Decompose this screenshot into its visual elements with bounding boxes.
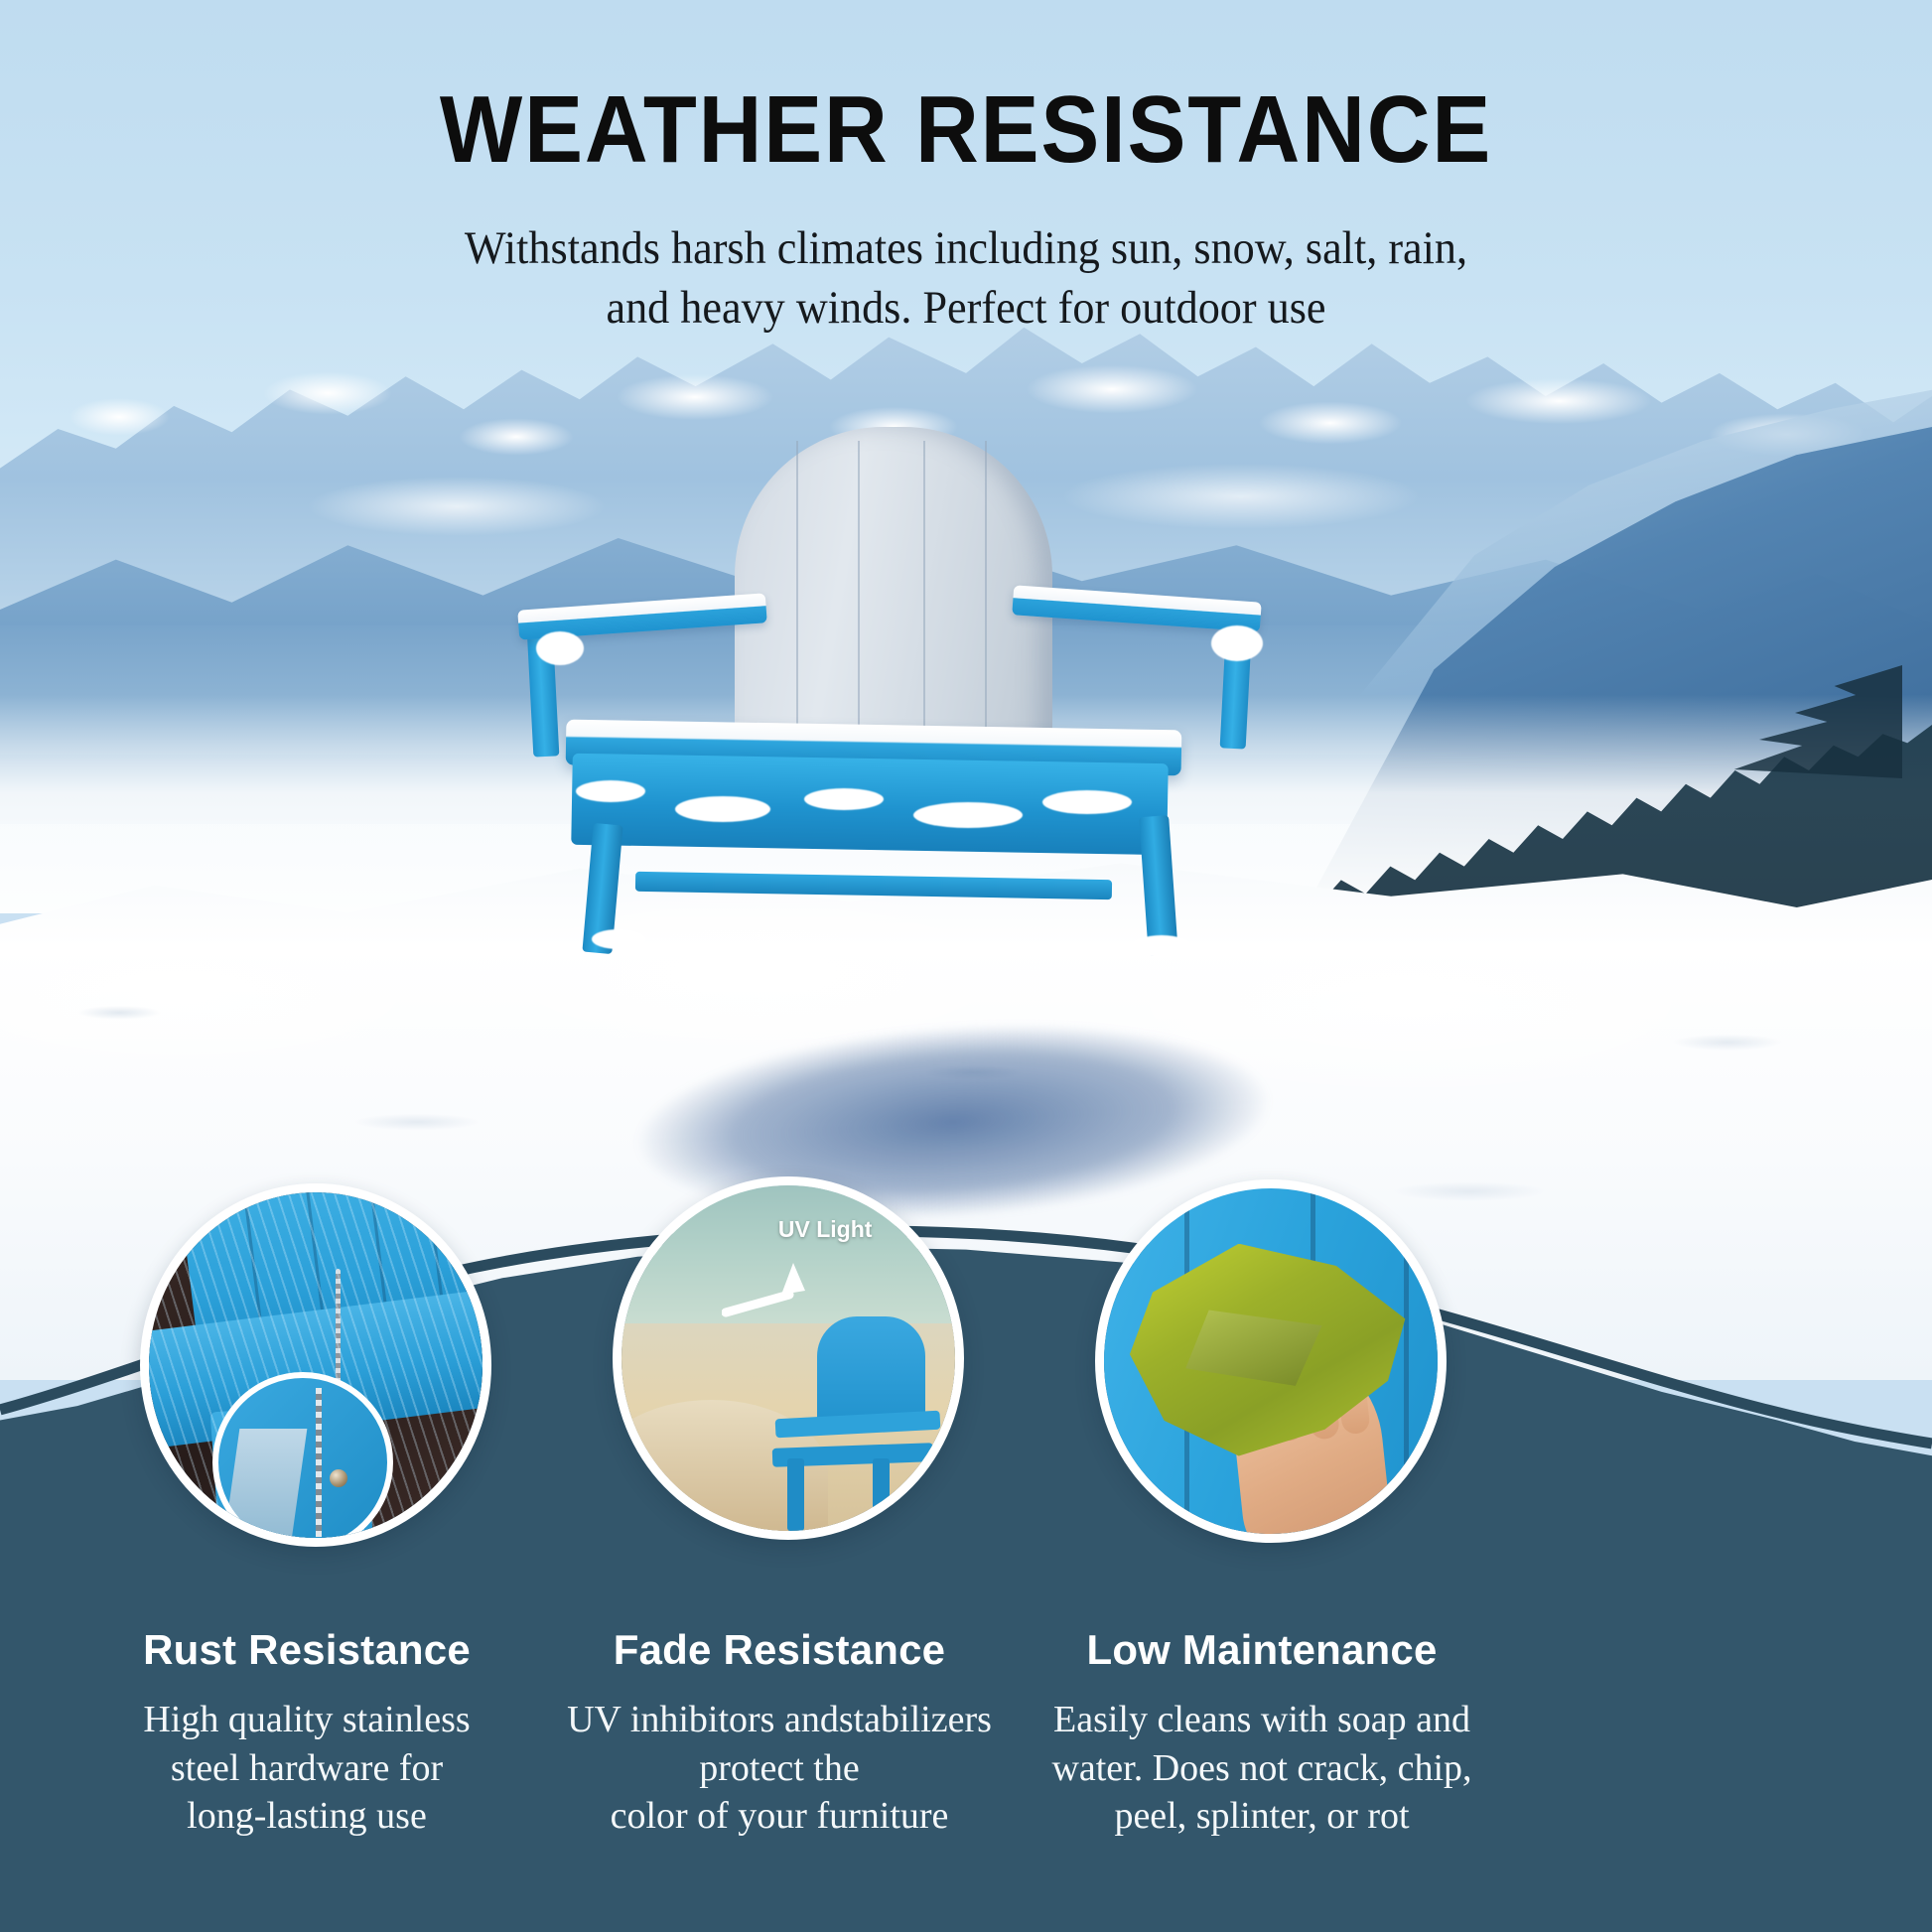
page-subtitle: Withstands harsh climates including sun,… [58,218,1873,338]
feature-desc-line: peel, splinter, or rot [984,1792,1540,1841]
feature-title-low-maintenance: Low Maintenance [984,1626,1540,1674]
feature-image-fade: UV Light [613,1176,964,1540]
fade-photo: UV Light [621,1185,955,1531]
feature-desc-line: UV inhibitors andstabilizers [501,1696,1057,1744]
subtitle-line-2: and heavy winds. Perfect for outdoor use [58,278,1873,338]
feature-desc-low-maintenance: Easily cleans with soap and water. Does … [984,1696,1540,1841]
low-maintenance-photo [1104,1188,1438,1534]
feature-block-fade: Fade Resistance UV inhibitors andstabili… [501,1626,1057,1841]
uv-light-label: UV Light [778,1216,873,1243]
subtitle-line-1: Withstands harsh climates including sun,… [58,218,1873,278]
feature-title-fade: Fade Resistance [501,1626,1057,1674]
feature-desc-line: color of your furniture [501,1792,1057,1841]
beach-chair [768,1316,955,1531]
feature-image-rust [140,1183,491,1547]
chair-stretcher [635,872,1112,899]
feature-block-low-maintenance: Low Maintenance Easily cleans with soap … [984,1626,1540,1841]
hero-adirondack-chair [616,427,1311,943]
feature-image-low-maintenance [1095,1179,1447,1543]
uv-light-arrow-icon [722,1255,831,1334]
feature-desc-fade: UV inhibitors andstabilizers protect the… [501,1696,1057,1841]
rust-photo [149,1192,483,1538]
feature-desc-line: Easily cleans with soap and [984,1696,1540,1744]
feature-desc-line: water. Does not crack, chip, [984,1744,1540,1793]
feature-desc-line: protect the [501,1744,1057,1793]
hardware-inset-zoom [212,1372,393,1547]
weather-resistance-infographic: WEATHER RESISTANCE Withstands harsh clim… [0,0,1932,1932]
page-title: WEATHER RESISTANCE [77,75,1855,185]
